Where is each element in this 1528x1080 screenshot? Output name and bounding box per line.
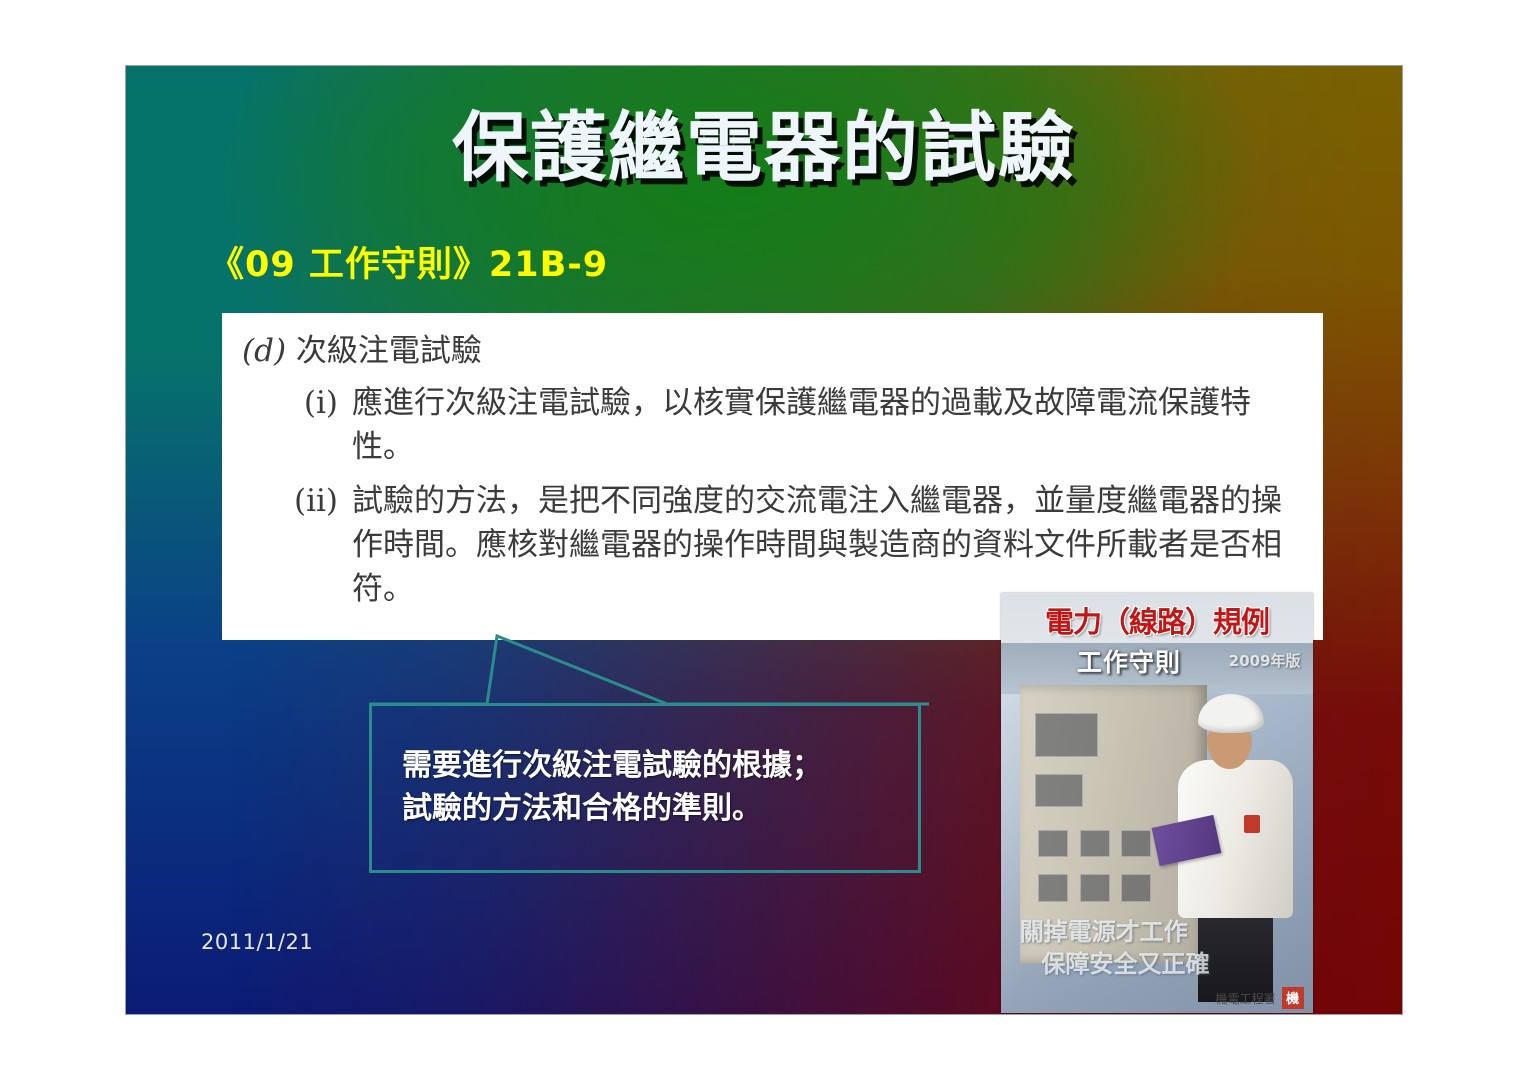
regulation-item-number: (i) xyxy=(294,381,352,469)
book-cover-subtitle: 工作守則 xyxy=(1020,643,1238,679)
regulation-item-number: (ii) xyxy=(294,479,352,611)
book-cover-publisher: 機電工程署 xyxy=(1216,990,1276,1007)
regulation-item: (ii) 試驗的方法，是把不同強度的交流電注入繼電器，並量度繼電器的操作時間。應… xyxy=(294,479,1301,611)
book-cover-slogan-line-1: 關掉電源才工作 xyxy=(1001,912,1313,947)
regulation-clause-title: 次級注電試驗 xyxy=(296,333,482,369)
worker-badge xyxy=(1244,815,1260,833)
slide-date: 2011/1/21 xyxy=(201,930,313,954)
regulation-item-text: 應進行次級注電試驗，以核實保護繼電器的過載及故障電流保護特性。 xyxy=(352,381,1301,469)
regulation-clause-heading: (d) 次級注電試驗 xyxy=(242,331,1301,371)
presentation-slide: 保護繼電器的試驗 《09 工作守則》21B-9 (d) 次級注電試驗 (i) 應… xyxy=(125,65,1403,1015)
regulation-clause-label: (d) xyxy=(242,333,286,369)
regulation-excerpt-box: (d) 次級注電試驗 (i) 應進行次級注電試驗，以核實保護繼電器的過載及故障電… xyxy=(222,313,1323,640)
book-cover-image: 電力（線路）規例 工作守則 2009年版 關掉電源才工作 保障安全又正確 機電工… xyxy=(1001,593,1313,1013)
book-cover-title: 電力（線路）規例 xyxy=(1001,599,1313,641)
callout-box: 需要進行次級注電試驗的根據； 試驗的方法和合格的準則。 xyxy=(369,703,921,873)
worker-helmet xyxy=(1198,694,1264,733)
slide-title: 保護繼電器的試驗 xyxy=(126,106,1402,190)
emsd-logo-icon: 機 xyxy=(1282,987,1304,1009)
regulation-item: (i) 應進行次級注電試驗，以核實保護繼電器的過載及故障電流保護特性。 xyxy=(294,381,1301,469)
slide-subtitle-reference: 《09 工作守則》21B-9 xyxy=(209,236,608,287)
book-cover-slogan-line-2: 保障安全又正確 xyxy=(1001,944,1313,979)
book-cover-year: 2009年版 xyxy=(1229,650,1301,671)
callout-text: 需要進行次級注電試驗的根據； 試驗的方法和合格的準則。 xyxy=(372,745,822,830)
regulation-item-text: 試驗的方法，是把不同強度的交流電注入繼電器，並量度繼電器的操作時間。應核對繼電器… xyxy=(352,479,1301,611)
